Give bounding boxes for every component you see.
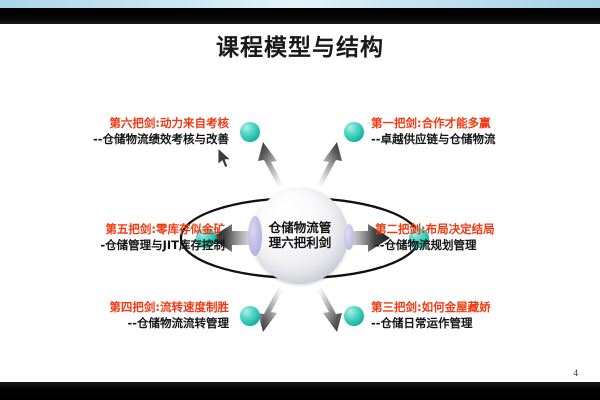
center-line-1: 仓储物流管 [269,221,332,236]
node-sword-3[interactable] [344,306,364,326]
node-sword-6[interactable] [240,122,260,142]
arrow-to-sword-4 [258,286,285,332]
label-sword-6[interactable]: 第六把剑:动力来自考核 --仓储物流绩效考核与改善 [93,116,229,147]
label-sword-3-heading: 第三把剑:如何金屋藏娇 [371,300,491,316]
label-sword-3[interactable]: 第三把剑:如何金屋藏娇 --仓储日常运作管理 [371,300,491,331]
label-sword-4-heading: 第四把剑:流转速度制胜 [109,300,229,316]
label-sword-5-subtitle: -仓储管理与JIT库存控制 [100,238,225,254]
label-sword-3-subtitle: --仓储日常运作管理 [371,316,491,332]
label-sword-2-subtitle: --仓储物流规划管理 [375,238,495,254]
orbit-ring-cap-right [344,224,354,250]
arrow-to-sword-1 [315,142,342,188]
hub-and-spoke-diagram: 仓储物流管 理六把利剑 第六把剑:动力来自考核 --仓储物流绩效考核与改善 第五… [0,80,600,370]
center-line-2: 理六把利剑 [269,236,332,251]
arrow-to-sword-3 [315,286,342,332]
top-sky-strip [0,0,600,8]
arrow-to-sword-6 [258,142,285,188]
label-sword-1-heading: 第一把剑:合作才能多赢 [371,116,496,132]
top-black-bar [0,8,600,24]
label-sword-4[interactable]: 第四把剑:流转速度制胜 --仓储物流流转管理 [109,300,229,331]
label-sword-2-heading: 第二把剑:布局决定结局 [375,222,495,238]
orbit-ring-cap-left [248,216,262,256]
bottom-black-bar [0,382,600,400]
label-sword-2[interactable]: 第二把剑:布局决定结局 --仓储物流规划管理 [375,222,495,253]
label-sword-1[interactable]: 第一把剑:合作才能多赢 --卓越供应链与仓储物流 [371,116,496,147]
node-sword-4[interactable] [240,306,260,326]
slide-canvas: 课程模型与结构 [0,0,600,400]
label-sword-4-subtitle: --仓储物流流转管理 [109,316,229,332]
page-title: 课程模型与结构 [0,28,600,62]
center-sphere[interactable]: 仓储物流管 理六把利剑 [252,188,348,284]
page-number: 4 [574,368,579,378]
label-sword-6-subtitle: --仓储物流绩效考核与改善 [93,132,229,148]
label-sword-5-heading: 第五把剑:零库存似金矿 [100,222,225,238]
label-sword-1-subtitle: --卓越供应链与仓储物流 [371,132,496,148]
node-sword-1[interactable] [344,122,364,142]
mouse-pointer-icon [218,148,234,170]
label-sword-5[interactable]: 第五把剑:零库存似金矿 -仓储管理与JIT库存控制 [100,222,225,253]
label-sword-6-heading: 第六把剑:动力来自考核 [93,116,229,132]
